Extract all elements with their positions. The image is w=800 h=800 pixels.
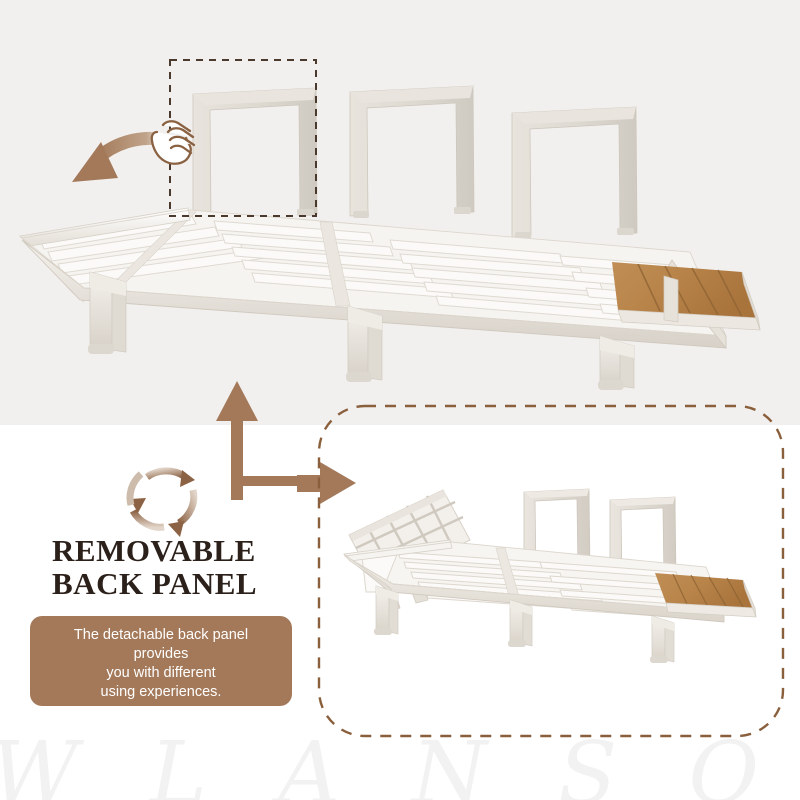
brand-watermark: W L A N S O O [0,735,800,800]
feature-caption-box: The detachable back panel provides you w… [30,616,292,706]
caption-line-2: provides [30,645,292,664]
title-line-2: BACK PANEL [52,567,302,600]
caption-line-1: The detachable back panel [30,626,292,645]
top-background-panel [0,0,800,425]
page-title: REMOVABLE BACK PANEL [52,534,302,600]
caption-line-3: you with different [30,664,292,683]
title-line-1: REMOVABLE [52,534,302,567]
infographic-canvas: W L A N S O O [0,0,800,800]
caption-line-4: using experiences. [30,683,292,702]
